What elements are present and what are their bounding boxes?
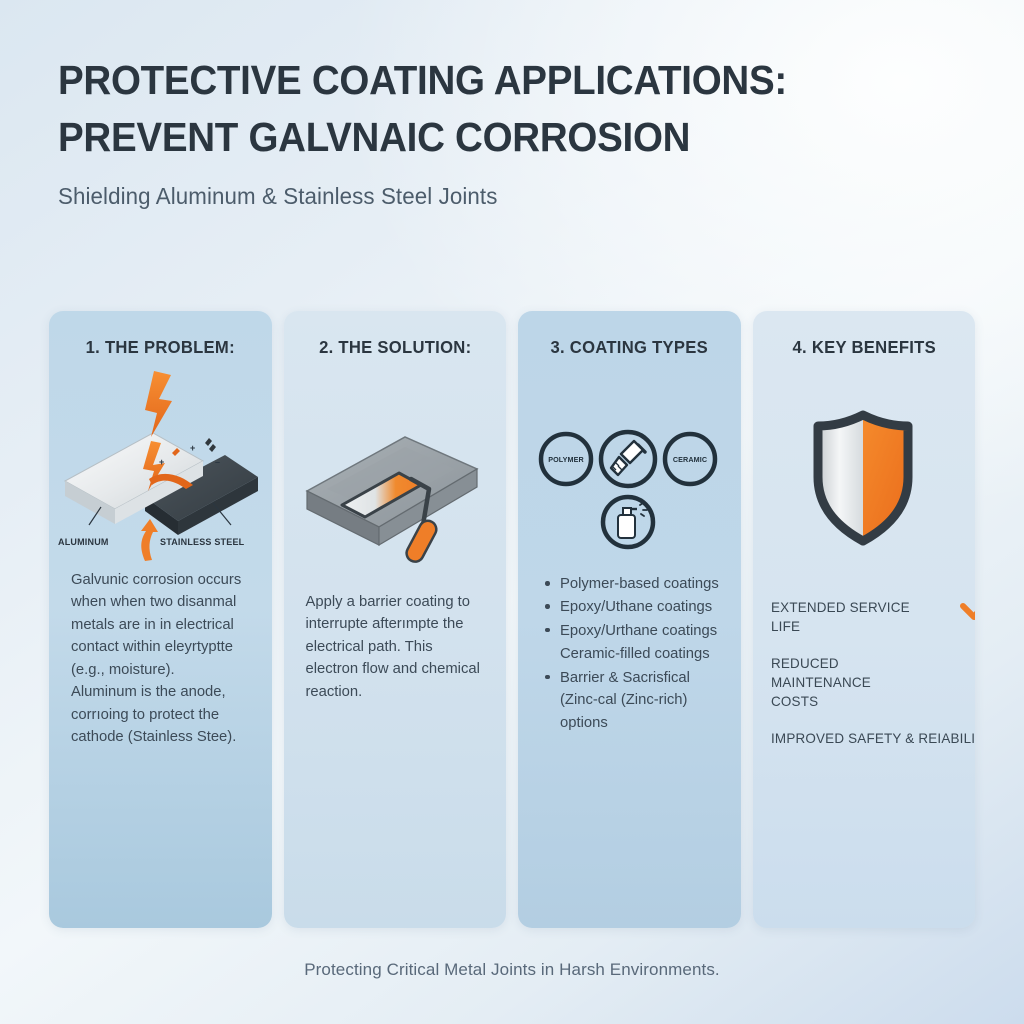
brush-badge[interactable] [601, 432, 655, 486]
coating-types-list: Polymer-based coatings Epoxy/Uthane coat… [544, 573, 731, 735]
shield-icon [811, 409, 915, 549]
panel-1-body: Galvunic corrosion occurs when when two … [71, 569, 254, 749]
ceramic-badge-label: CERAMIC [673, 455, 707, 464]
polymer-badge[interactable]: POLYMER [541, 434, 591, 484]
page-subtitle: Shielding Aluminum & Stainless Steel Joi… [58, 183, 931, 210]
panel-2-body: Apply a barrier coating to interrupte af… [306, 591, 489, 703]
charge-plus-1: + [159, 457, 164, 467]
list-item: Epoxy/Urthane coatings [544, 620, 731, 642]
ceramic-badge[interactable]: CERAMIC [665, 434, 715, 484]
panel-coating-types[interactable]: 3. COATING TYPES POLYMER [518, 311, 741, 928]
electrolyte-arrow [141, 519, 158, 561]
electron-particle-2 [205, 438, 212, 446]
label-aluminum: ALUMINUM [58, 537, 109, 547]
list-item: Ceramic-filled coatings [544, 643, 731, 665]
shield-illustration [753, 369, 976, 569]
charge-minus: – [215, 457, 220, 467]
spray-can-badge[interactable] [603, 497, 653, 547]
panel-3-heading: 3. COATING TYPES [524, 337, 735, 358]
page-title-line-2: PREVENT GALVNAIC CORROSION [58, 109, 904, 166]
panel-the-problem[interactable]: 1. THE PROBLEM: [49, 311, 272, 928]
electron-particle-3 [209, 444, 216, 452]
checkmark-icon [957, 584, 976, 624]
galvanic-corrosion-diagram: + + – ALUMINUM STAINLESS STEEL [49, 369, 272, 569]
panel-1-heading: 1. THE PROBLEM: [55, 337, 266, 358]
brush-icon [611, 441, 645, 475]
coating-type-icon-grid: POLYMER CERAMIC [518, 369, 741, 569]
polymer-badge-label: POLYMER [548, 455, 584, 464]
panel-row: 1. THE PROBLEM: [49, 311, 975, 928]
list-item: Epoxy/Uthane coatings [544, 596, 731, 618]
charge-plus-2: + [190, 443, 195, 453]
panel-2-heading: 2. THE SOLUTION: [289, 337, 500, 358]
footer-caption: Protecting Critical Metal Joints in Hars… [0, 960, 1024, 980]
page-header: PROTECTIVE COATING APPLICATIONS: PREVENT… [58, 52, 958, 210]
benefit-item: IMPROVED SAFETY & REIABILITY [771, 729, 976, 748]
label-stainless-steel: STAINLESS STEEL [160, 537, 245, 547]
benefits-list: EXTENDED SERVICE LIFE REDUCED MAINTENANC… [771, 598, 976, 765]
list-item: Polymer-based coatings [544, 573, 731, 595]
panel-the-solution[interactable]: 2. THE SOLUTION: [284, 311, 507, 928]
panel-key-benefits[interactable]: 4. KEY BENEFITS [753, 311, 976, 928]
list-item: Barrier & Sacrisfical (Zinc-cal (Zinc-ri… [544, 667, 731, 734]
benefit-item: EXTENDED SERVICE LIFE [771, 598, 917, 637]
coating-application-illustration [284, 369, 507, 569]
page-title: PROTECTIVE COATING APPLICATIONS: PREVENT… [58, 52, 904, 165]
spray-can-icon [618, 503, 647, 538]
page-title-line-1: PROTECTIVE COATING APPLICATIONS: [58, 52, 904, 109]
panel-4-heading: 4. KEY BENEFITS [758, 337, 969, 358]
benefit-item: REDUCED MAINTENANCE COSTS [771, 654, 917, 712]
